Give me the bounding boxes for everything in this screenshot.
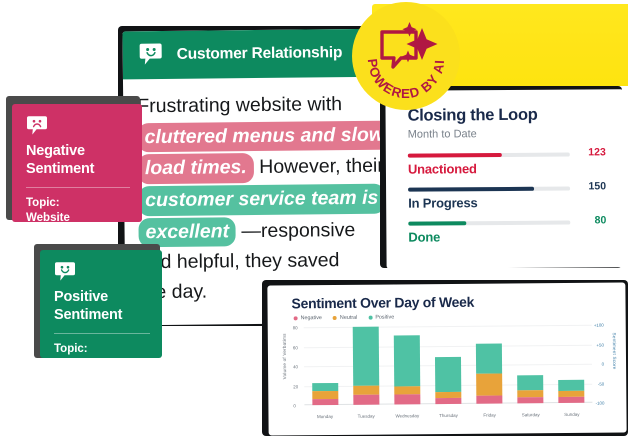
metric-fill — [408, 153, 502, 158]
y2-tick: +50 — [596, 342, 603, 347]
x-tick-label: Tuesday — [353, 414, 379, 419]
metric-track — [408, 153, 570, 158]
x-tick-label: Monday — [312, 414, 338, 419]
metric-fill — [408, 221, 466, 225]
metric-label: Unactioned — [408, 160, 606, 176]
x-tick-label: Wednesday — [394, 413, 420, 418]
transcript-line: Frustrating website with — [137, 91, 381, 121]
y-tick: 40 — [293, 364, 298, 369]
highlight-negative: cluttered menus and slow — [137, 120, 391, 152]
metric-row: 80Done — [408, 220, 606, 244]
positive-card-divider — [54, 333, 150, 334]
metric-label: Done — [408, 228, 606, 244]
metric-track — [408, 187, 570, 192]
chart-plot-area: Volume of Verbatims Sentiment Score 0204… — [280, 321, 619, 420]
chart-y-axis-label: Volume of Verbatims — [282, 333, 287, 379]
speech-bubble-sparkle-icon: POWERED BY AI — [352, 2, 460, 110]
closing-the-loop-metrics: 123Unactioned150In Progress80Done — [408, 152, 607, 244]
positive-sentiment-card[interactable]: Positive Sentiment Topic: Customer Servi… — [40, 250, 162, 358]
legend-item[interactable]: Neutral — [333, 315, 357, 321]
x-tick-label: Saturday — [518, 412, 544, 417]
negative-sentiment-label: Negative Sentiment — [26, 143, 130, 178]
metric-row: 150In Progress — [408, 186, 606, 210]
chart-sentiment-line — [304, 325, 594, 436]
highlight-negative: load times. — [138, 153, 254, 184]
negative-sentiment-line1: Negative — [26, 143, 130, 161]
y2-tick: +100 — [594, 323, 604, 328]
positive-sentiment-line2: Sentiment — [54, 307, 150, 325]
x-tick-label: Thursday — [435, 413, 461, 418]
svg-text:POWERED BY AI: POWERED BY AI — [365, 58, 447, 101]
frowning-face-icon — [26, 125, 50, 142]
y2-tick: -100 — [596, 401, 605, 406]
y2-tick: 0 — [602, 362, 604, 367]
transcript-line: excellent —responsive — [138, 215, 382, 247]
positive-sentiment-label: Positive Sentiment — [54, 289, 150, 324]
metric-track — [408, 221, 570, 226]
smiley-speech-bubble-icon — [139, 43, 165, 67]
conversation-card-title: Customer Relationship — [177, 44, 343, 64]
transcript-text: Frustrating website with — [137, 93, 342, 117]
screenshot-stage: Customer Relationship Frustrating websit… — [0, 0, 628, 438]
y-tick: 0 — [293, 403, 295, 408]
chart-title: Sentiment Over Day of Week — [291, 293, 617, 312]
conversation-card-header: Customer Relationship — [122, 29, 390, 80]
legend-label: Negative — [301, 315, 322, 321]
y2-tick: -50 — [598, 381, 604, 386]
y-tick: 20 — [293, 384, 298, 389]
legend-item[interactable]: Negative — [294, 315, 322, 321]
badge-text: POWERED BY AI — [365, 58, 447, 101]
y-tick: 60 — [293, 345, 298, 350]
transcript-line: load times. However, their — [138, 152, 382, 184]
legend-swatch — [294, 316, 298, 320]
highlight-positive: customer service team is — [138, 184, 385, 216]
negative-topic-value: Website Experience — [26, 211, 130, 241]
smiling-face-icon — [54, 271, 78, 288]
negative-card-divider — [26, 187, 130, 188]
legend-swatch — [368, 316, 372, 320]
transcript-text: and helpful, they saved — [139, 250, 340, 274]
metric-fill — [408, 187, 534, 192]
transcript-line: customer service team is — [138, 184, 382, 216]
transcript-text: However, their — [254, 155, 384, 178]
legend-label: Neutral — [340, 315, 357, 321]
x-tick-label: Friday — [477, 413, 503, 418]
transcript-text: —responsive — [236, 219, 355, 242]
x-tick-label: Sunday — [559, 412, 585, 417]
y-tick: 80 — [293, 325, 298, 330]
sentiment-chart-card: Sentiment Over Day of Week NegativeNeutr… — [267, 282, 626, 435]
metric-label: In Progress — [408, 194, 606, 210]
metric-row: 123Unactioned — [408, 152, 606, 176]
closing-the-loop-card: Closing the Loop Month to Date 123Unacti… — [385, 89, 624, 269]
chart-y2-axis-label: Sentiment Score — [612, 333, 617, 370]
negative-sentiment-card[interactable]: Negative Sentiment Topic: Website Experi… — [12, 104, 142, 222]
metric-value: 80 — [595, 214, 607, 226]
positive-sentiment-line1: Positive — [54, 289, 150, 307]
metric-value: 123 — [588, 146, 606, 158]
legend-label: Positive — [375, 314, 394, 320]
negative-topic-label: Topic: — [26, 196, 130, 211]
legend-item[interactable]: Positive — [368, 314, 394, 320]
legend-swatch — [333, 316, 337, 320]
transcript-line: cluttered menus and slow — [137, 120, 381, 152]
transcript-line: and helpful, they saved — [139, 247, 383, 277]
closing-the-loop-subtitle: Month to Date — [408, 127, 606, 140]
positive-topic-value: Customer Service — [54, 357, 150, 387]
negative-sentiment-line2: Sentiment — [26, 161, 130, 179]
metric-value: 150 — [588, 180, 606, 192]
powered-by-ai-badge: POWERED BY AI — [352, 2, 460, 110]
positive-topic-label: Topic: — [54, 342, 150, 357]
